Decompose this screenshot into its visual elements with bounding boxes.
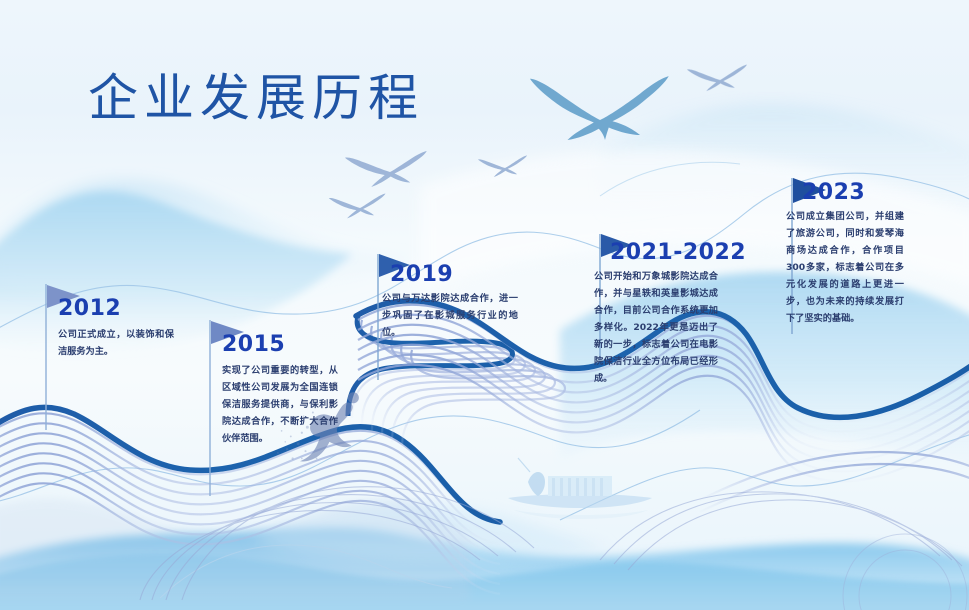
milestone-text: 公司与万达影院达成合作，进一步巩固了在影城服务行业的地位。 xyxy=(382,290,518,341)
milestone-text: 实现了公司重要的转型，从区域性公司发展为全国连锁保洁服务提供商，与保利影院达成合… xyxy=(222,362,338,447)
poster-canvas: 2012 公司正式成立，以装饰和保洁服务为主。 2015 实现了公司重要的转型，… xyxy=(0,0,969,610)
milestone-year: 2023 xyxy=(802,180,865,205)
milestone-year: 2012 xyxy=(58,296,121,321)
milestone-year: 2021-2022 xyxy=(610,240,746,265)
milestone-year: 2015 xyxy=(222,332,285,357)
milestone-text: 公司正式成立，以装饰和保洁服务为主。 xyxy=(58,326,174,360)
milestone-text: 公司成立集团公司，并组建了旅游公司，同时和爱琴海商场达成合作，合作项目300多家… xyxy=(786,208,904,327)
milestone-year: 2019 xyxy=(390,262,453,287)
page-title: 企业发展历程 xyxy=(88,58,424,130)
milestone-text: 公司开始和万象城影院达成合作，并与星轶和英皇影城达成合作，目前公司合作系统更加多… xyxy=(594,268,718,387)
